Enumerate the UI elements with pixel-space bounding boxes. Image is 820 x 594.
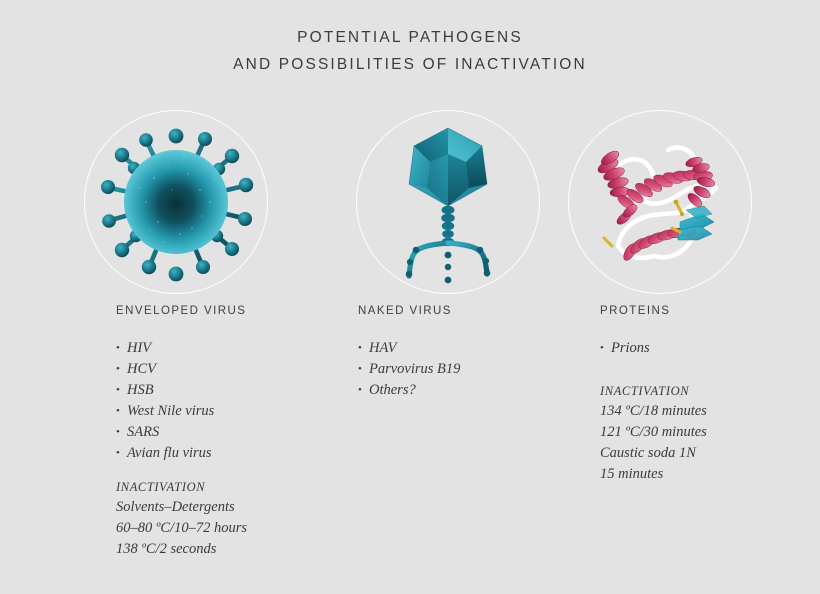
bacteriophage-icon	[356, 110, 540, 294]
phage-legs	[409, 243, 487, 282]
enveloped-virus-icon	[84, 110, 268, 294]
inactivation-line: 60–80 ºC/10–72 hours	[116, 518, 247, 539]
phage-head	[409, 128, 487, 206]
alpha-helix-upper-left	[596, 148, 631, 197]
illustration-enveloped-virus	[84, 110, 268, 294]
column-proteins: PROTEINS Prions INACTIVATION 134 ºC/18 m…	[568, 0, 818, 594]
pathogen-columns: ENVELOPED VIRUS HIV HCV HSB West Nile vi…	[0, 0, 820, 594]
inactivation-line: Caustic soda 1N	[600, 443, 707, 464]
column-heading: PROTEINS	[600, 305, 670, 317]
infographic-page: { "page": { "background_color": "#e3e3e3…	[0, 0, 820, 594]
list-item: SARS	[116, 422, 214, 443]
inactivation-block: INACTIVATION 134 ºC/18 minutes 121 ºC/30…	[600, 381, 707, 485]
list-item: Others?	[358, 380, 460, 401]
inactivation-block: INACTIVATION Solvents–Detergents 60–80 º…	[116, 477, 247, 560]
list-item: HIV	[116, 338, 214, 359]
inactivation-label: INACTIVATION	[600, 381, 707, 401]
prion-protein-ribbon-icon	[568, 110, 752, 294]
list-item: Avian flu virus	[116, 443, 214, 464]
list-item: HSB	[116, 380, 214, 401]
column-heading: ENVELOPED VIRUS	[116, 305, 246, 317]
inactivation-line: Solvents–Detergents	[116, 497, 247, 518]
pathogen-list: Prions	[600, 338, 650, 359]
list-item: West Nile virus	[116, 401, 214, 422]
inactivation-label: INACTIVATION	[116, 477, 247, 497]
phage-leg-joints	[406, 247, 491, 284]
list-item: HCV	[116, 359, 214, 380]
inactivation-line: 138 ºC/2 seconds	[116, 539, 247, 560]
pathogen-list: HIV HCV HSB West Nile virus SARS Avian f…	[116, 338, 214, 464]
column-enveloped-virus: ENVELOPED VIRUS HIV HCV HSB West Nile vi…	[84, 0, 334, 594]
inactivation-line: 121 ºC/30 minutes	[600, 422, 707, 443]
list-item: Parvovirus B19	[358, 359, 460, 380]
illustration-proteins	[568, 110, 752, 294]
inactivation-line: 15 minutes	[600, 464, 707, 485]
column-naked-virus: NAKED VIRUS HAV Parvovirus B19 Others?	[326, 0, 576, 594]
illustration-naked-virus	[356, 110, 540, 294]
column-heading: NAKED VIRUS	[358, 305, 452, 317]
inactivation-line: 134 ºC/18 minutes	[600, 401, 707, 422]
list-item: HAV	[358, 338, 460, 359]
list-item: Prions	[600, 338, 650, 359]
virus-envelope	[124, 150, 228, 254]
phage-tail	[441, 204, 455, 246]
pathogen-list: HAV Parvovirus B19 Others?	[358, 338, 460, 401]
alpha-helix-right	[685, 155, 716, 209]
